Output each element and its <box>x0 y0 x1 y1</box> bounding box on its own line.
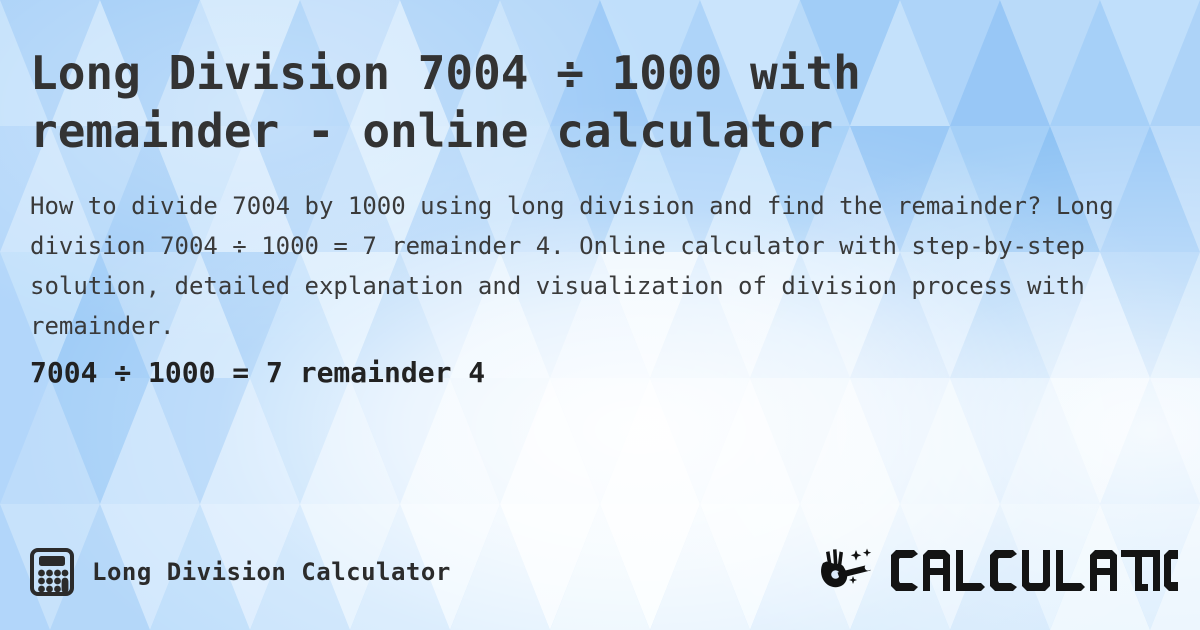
footer-brand[interactable]: Long Division Calculator <box>30 548 451 596</box>
footer: Long Division Calculator <box>0 540 1200 630</box>
poster-content: Long Division 7004 ÷ 1000 with remainder… <box>0 0 1200 630</box>
poster-canvas: Long Division 7004 ÷ 1000 with remainder… <box>0 0 1200 630</box>
page-description: How to divide 7004 by 1000 using long di… <box>30 186 1180 346</box>
hand-holding-magic-wand-icon <box>812 546 884 596</box>
footer-brand-label: Long Division Calculator <box>92 558 451 586</box>
logo-wordmark <box>888 548 1178 594</box>
page-title: Long Division 7004 ÷ 1000 with remainder… <box>30 44 1030 160</box>
calculator-icon <box>30 548 74 596</box>
result-equation: 7004 ÷ 1000 = 7 remainder 4 <box>30 356 485 390</box>
site-logo[interactable] <box>812 546 1178 596</box>
